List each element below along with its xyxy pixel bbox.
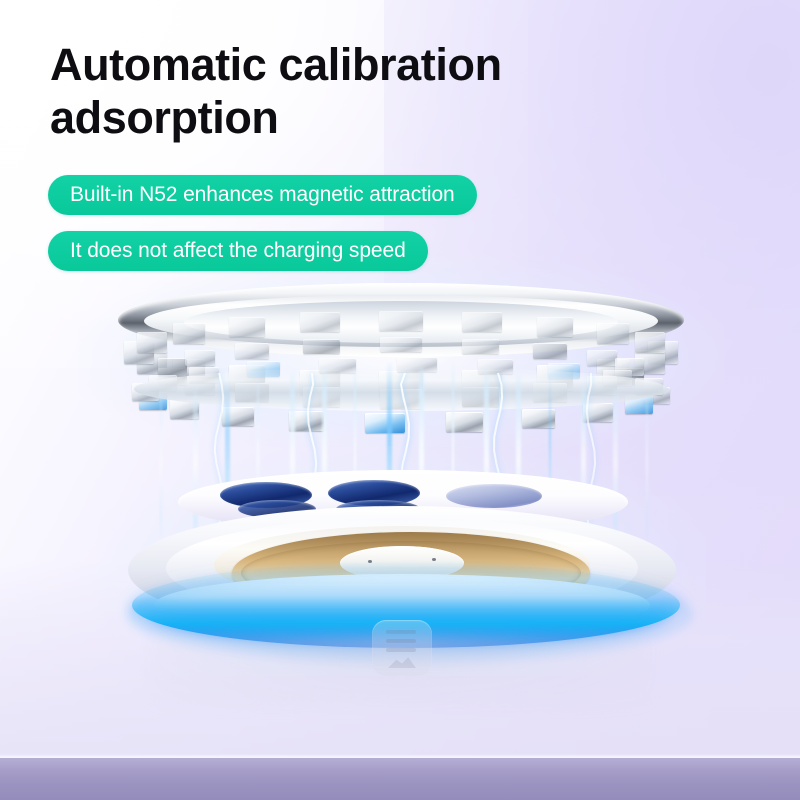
table-surface — [0, 560, 800, 760]
feature-badge-charging-speed: It does not affect the charging speed — [48, 231, 428, 271]
feature-badge-magnetic-label: Built-in N52 enhances magnetic attractio… — [70, 183, 455, 207]
feature-badge-magnetic: Built-in N52 enhances magnetic attractio… — [48, 175, 477, 215]
table-front-face — [0, 758, 800, 800]
feature-badge-charging-speed-label: It does not affect the charging speed — [70, 239, 406, 263]
page-title: Automatic calibration adsorption — [50, 38, 710, 144]
product-marketing-banner: Automatic calibration adsorption Built-i… — [0, 0, 800, 800]
